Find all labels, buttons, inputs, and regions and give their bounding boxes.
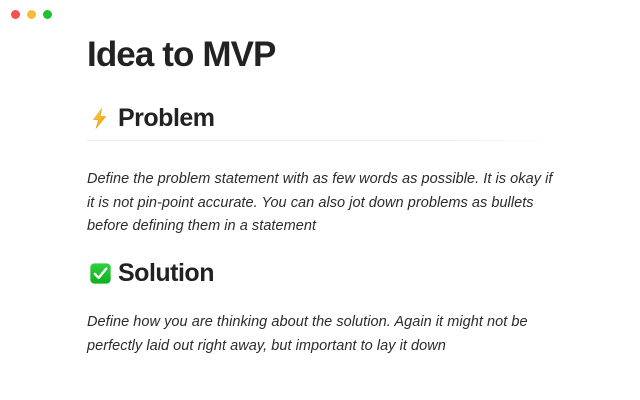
page-title[interactable]: Idea to MVP [87,34,275,76]
section-heading-label: Problem [118,102,215,134]
minimize-window-button[interactable] [27,10,36,19]
section-heading-label: Solution [118,257,214,289]
white-check-mark-icon [87,260,113,286]
section-heading-solution[interactable]: Solution [87,257,577,289]
maximize-window-button[interactable] [43,10,52,19]
section-body-solution[interactable]: Define how you are thinking about the so… [87,311,529,358]
section-solution: Solution Define how you are thinking abo… [87,257,577,358]
window-titlebar [0,0,640,28]
window-controls [11,10,52,19]
section-body-problem[interactable]: Define the problem statement with as few… [87,168,557,239]
close-window-button[interactable] [11,10,20,19]
app-window: Idea to MVP Pr [0,0,640,400]
high-voltage-icon [87,105,113,131]
section-problem: Problem Define the problem statement wit… [87,102,577,239]
section-divider [87,140,556,141]
section-heading-problem[interactable]: Problem [87,102,577,134]
